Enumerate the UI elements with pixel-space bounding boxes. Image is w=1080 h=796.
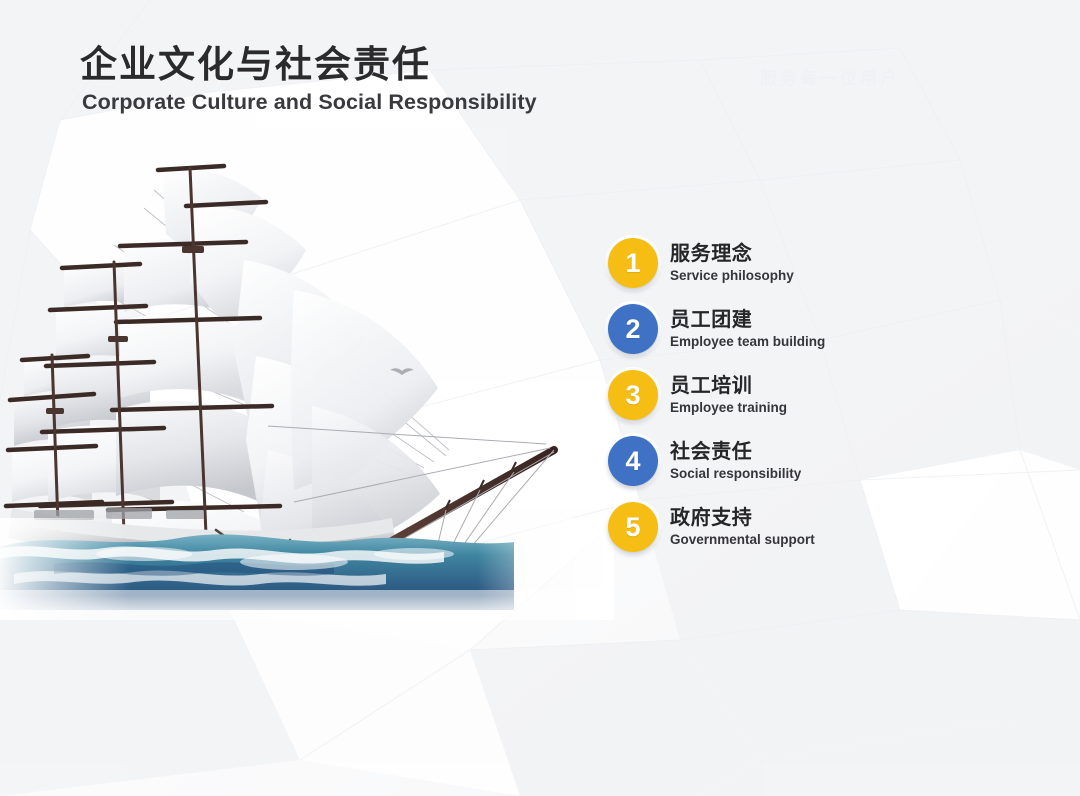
- list-item[interactable]: 2 员工团建 Employee team building: [608, 304, 1028, 354]
- item-text-group: 服务理念 Service philosophy: [670, 241, 794, 284]
- badge-number-1: 1: [608, 238, 658, 288]
- item-label-english: Employee team building: [670, 334, 825, 351]
- item-label-chinese: 员工团建: [670, 307, 825, 331]
- item-label-chinese: 服务理念: [670, 241, 794, 265]
- item-label-english: Social responsibility: [670, 466, 801, 483]
- item-text-group: 员工团建 Employee team building: [670, 307, 825, 350]
- badge-number-2: 2: [608, 304, 658, 354]
- list-item[interactable]: 1 服务理念 Service philosophy: [608, 238, 1028, 288]
- numbered-item-list: 1 服务理念 Service philosophy 2 员工团建 Employe…: [608, 238, 1028, 552]
- item-label-english: Governmental support: [670, 532, 815, 549]
- badge-number-5: 5: [608, 502, 658, 552]
- sailing-ship-illustration: [0, 150, 614, 620]
- item-label-chinese: 政府支持: [670, 505, 815, 529]
- badge-number-3: 3: [608, 370, 658, 420]
- item-label-english: Service philosophy: [670, 268, 794, 285]
- item-label-chinese: 员工培训: [670, 373, 787, 397]
- list-item[interactable]: 5 政府支持 Governmental support: [608, 502, 1028, 552]
- title-chinese: 企业文化与社会责任: [80, 44, 537, 87]
- item-text-group: 员工培训 Employee training: [670, 373, 787, 416]
- presentation-slide: 服务每一位用户: [0, 0, 1080, 796]
- title-english: Corporate Culture and Social Responsibil…: [82, 90, 537, 116]
- list-item[interactable]: 4 社会责任 Social responsibility: [608, 436, 1028, 486]
- watermark-text: 服务每一位用户: [760, 64, 900, 89]
- page-title: 企业文化与社会责任 Corporate Culture and Social R…: [80, 44, 537, 115]
- list-item[interactable]: 3 员工培训 Employee training: [608, 370, 1028, 420]
- item-label-english: Employee training: [670, 400, 787, 417]
- item-label-chinese: 社会责任: [670, 439, 801, 463]
- item-text-group: 政府支持 Governmental support: [670, 505, 815, 548]
- item-text-group: 社会责任 Social responsibility: [670, 439, 801, 482]
- badge-number-4: 4: [608, 436, 658, 486]
